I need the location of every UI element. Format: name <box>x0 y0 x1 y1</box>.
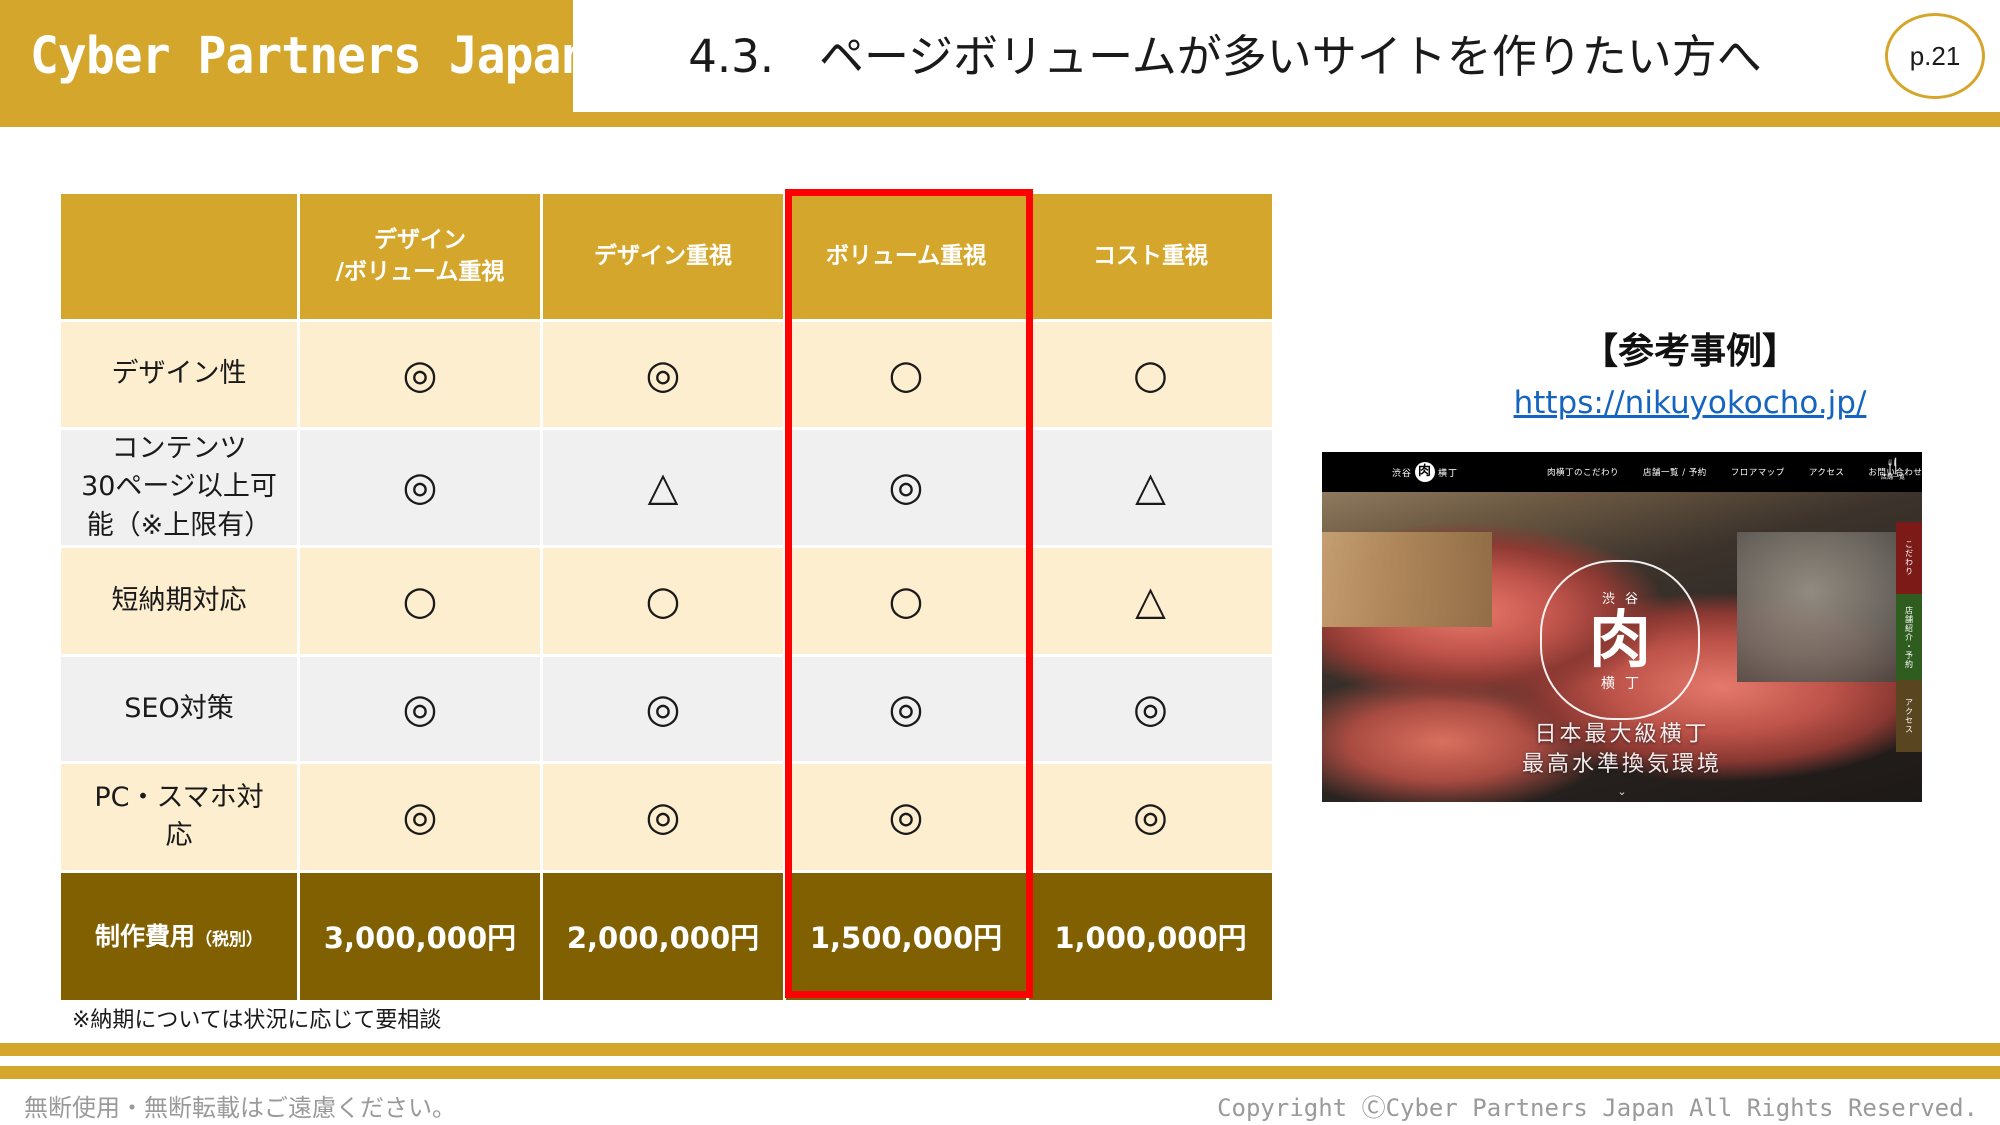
price-design: 2,000,000円 <box>543 873 786 1003</box>
reference-heading: 【参考事例】 <box>1340 322 2000 374</box>
slide-header: Cyber Partners Japan 4.3. ページボリュームが多いサイト… <box>0 0 2000 127</box>
page-title: 4.3. ページボリュームが多いサイトを作りたい方へ <box>600 24 1850 90</box>
row-label-pc-smartphone: PC・スマホ対 応 <box>61 764 300 873</box>
site-navigation-bar: 渋谷 肉 横丁 肉横丁のこだわり 店舗一覧 / 予約 フロアマップ アクセス お… <box>1322 452 1922 492</box>
column-header-design-volume: デザイン /ボリューム重視 <box>300 194 543 322</box>
site-nav-item-3[interactable]: アクセス <box>1809 466 1845 478</box>
row-label-short-delivery: 短納期対応 <box>61 548 300 657</box>
cell-content-r1-c3: △ <box>1029 430 1272 548</box>
column-header-line2: /ボリューム重視 <box>336 259 505 285</box>
site-logo: 渋谷 肉 横丁 <box>1392 461 1502 483</box>
table-row: デザイン性 ◎ ◎ ○ ○ <box>61 322 1272 430</box>
row-label-line2: 30ページ以上可 <box>81 471 277 502</box>
cell-device-r4-c2: ◎ <box>786 764 1029 873</box>
scroll-down-chevron-icon: ⌄ <box>1322 785 1922 798</box>
site-hero-emblem: 渋谷 肉 横丁 <box>1540 560 1700 720</box>
cell-content-r1-c2: ◎ <box>786 430 1029 548</box>
table-row: コンテンツ 30ページ以上可 能（※上限有） ◎ △ ◎ △ <box>61 430 1272 548</box>
cell-design-r0-c1: ◎ <box>543 322 786 430</box>
column-header-cost: コスト重視 <box>1029 194 1272 322</box>
cell-delivery-r2-c2: ○ <box>786 548 1029 657</box>
side-tab-kodawari[interactable]: こだわり <box>1896 522 1922 594</box>
price-cost: 1,000,000円 <box>1029 873 1272 1003</box>
row-label-line1: PC・スマホ対 <box>94 782 263 813</box>
row-label-content-pages: コンテンツ 30ページ以上可 能（※上限有） <box>61 430 300 548</box>
cell-design-r0-c3: ○ <box>1029 322 1272 430</box>
footer-usage-notice: 無断使用・無断転載はご遠慮ください。 <box>24 1088 456 1123</box>
plan-comparison-table: デザイン /ボリューム重視 デザイン重視 ボリューム重視 コスト重視 デザイン性… <box>61 194 1272 1003</box>
site-logo-badge-icon: 肉 <box>1415 462 1435 482</box>
cell-seo-r3-c1: ◎ <box>543 657 786 764</box>
cell-device-r4-c3: ◎ <box>1029 764 1272 873</box>
site-logo-text-left: 渋谷 <box>1392 466 1412 479</box>
emblem-text-bottom: 横丁 <box>1601 673 1649 693</box>
table-footnote: ※納期については状況に応じて要相談 <box>72 1002 441 1034</box>
reference-url-link[interactable]: https://nikuyokocho.jp/ <box>1340 385 2000 421</box>
tagline-line2: 最高水準換気環境 <box>1322 750 1922 780</box>
site-nav-item-1[interactable]: 店舗一覧 / 予約 <box>1643 466 1707 478</box>
column-header-line1: デザイン <box>374 227 466 253</box>
site-nav-cta-label: 店舗一覧 <box>1881 474 1905 481</box>
cell-design-r0-c2: ○ <box>786 322 1029 430</box>
hero-wood-board <box>1322 532 1492 627</box>
cell-device-r4-c0: ◎ <box>300 764 543 873</box>
cell-content-r1-c1: △ <box>543 430 786 548</box>
emblem-text-main: 肉 <box>1589 607 1651 673</box>
footer-accent-bar-top <box>0 1043 2000 1056</box>
row-label-line2: 応 <box>166 820 193 851</box>
cutlery-icon: 🍴 <box>1876 458 1910 474</box>
cost-label-tax-note: （税別） <box>195 930 263 950</box>
site-nav-items: 肉横丁のこだわり 店舗一覧 / 予約 フロアマップ アクセス お問い合わせ JP… <box>1547 452 1922 492</box>
site-side-tabs: こだわり 店舗紹介・予約 アクセス <box>1896 522 1922 752</box>
price-design-volume: 3,000,000円 <box>300 873 543 1003</box>
table-row-cost: 制作費用（税別） 3,000,000円 2,000,000円 1,500,000… <box>61 873 1272 1003</box>
column-header-design: デザイン重視 <box>543 194 786 322</box>
hero-stone-plate <box>1737 532 1922 682</box>
row-label-design: デザイン性 <box>61 322 300 430</box>
column-header-volume: ボリューム重視 <box>786 194 1029 322</box>
table-row: SEO対策 ◎ ◎ ◎ ◎ <box>61 657 1272 764</box>
cell-seo-r3-c2: ◎ <box>786 657 1029 764</box>
footer-accent-bar-bottom <box>0 1066 2000 1079</box>
header-accent-bar <box>0 112 2000 127</box>
cell-delivery-r2-c1: ○ <box>543 548 786 657</box>
row-label-seo: SEO対策 <box>61 657 300 764</box>
cell-device-r4-c1: ◎ <box>543 764 786 873</box>
page-number-label: p.21 <box>1910 41 1961 72</box>
site-nav-cta-button[interactable]: 🍴 店舗一覧 <box>1876 458 1910 482</box>
side-tab-shops-reservation[interactable]: 店舗紹介・予約 <box>1896 594 1922 680</box>
row-label-production-cost: 制作費用（税別） <box>61 873 300 1003</box>
cost-label-main: 制作費用 <box>95 922 195 951</box>
price-volume: 1,500,000円 <box>786 873 1029 1003</box>
row-label-line3: 能（※上限有） <box>87 510 272 541</box>
table-row: 短納期対応 ○ ○ ○ △ <box>61 548 1272 657</box>
cell-delivery-r2-c0: ○ <box>300 548 543 657</box>
site-nav-item-2[interactable]: フロアマップ <box>1731 466 1785 478</box>
site-logo-text-right: 横丁 <box>1438 466 1458 479</box>
cell-seo-r3-c0: ◎ <box>300 657 543 764</box>
site-hero-tagline: 日本最大級横丁 最高水準換気環境 <box>1322 720 1922 780</box>
site-nav-item-0[interactable]: 肉横丁のこだわり <box>1547 466 1619 478</box>
cell-delivery-r2-c3: △ <box>1029 548 1272 657</box>
reference-site-screenshot: 渋谷 肉 横丁 肉横丁のこだわり 店舗一覧 / 予約 フロアマップ アクセス お… <box>1322 452 1922 802</box>
company-logo: Cyber Partners Japan <box>30 26 528 88</box>
page-number-badge: p.21 <box>1885 13 1985 99</box>
table-corner-cell <box>61 194 300 322</box>
cell-content-r1-c0: ◎ <box>300 430 543 548</box>
tagline-line1: 日本最大級横丁 <box>1322 720 1922 750</box>
table-row: PC・スマホ対 応 ◎ ◎ ◎ ◎ <box>61 764 1272 873</box>
cell-design-r0-c0: ◎ <box>300 322 543 430</box>
table-header-row: デザイン /ボリューム重視 デザイン重視 ボリューム重視 コスト重視 <box>61 194 1272 322</box>
footer-copyright: Copyright ⒸCyber Partners Japan All Righ… <box>1217 1088 1978 1123</box>
cell-seo-r3-c3: ◎ <box>1029 657 1272 764</box>
row-label-line1: コンテンツ <box>112 433 247 464</box>
side-tab-access[interactable]: アクセス <box>1896 680 1922 752</box>
